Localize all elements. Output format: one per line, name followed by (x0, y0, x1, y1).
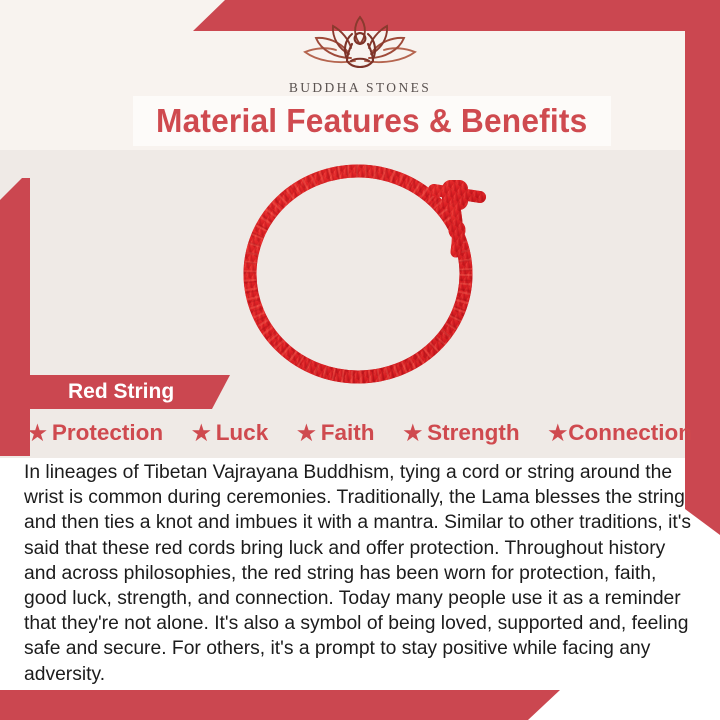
feature-label: Strength (427, 420, 520, 446)
feature-item-luck: ★ Luck (192, 420, 268, 446)
feature-label: Luck (216, 420, 269, 446)
infographic-page: BUDDHA STONES Material Features & Benefi… (0, 0, 720, 720)
feature-label: Protection (52, 420, 163, 446)
star-icon: ★ (403, 423, 422, 444)
feature-label: Faith (321, 420, 375, 446)
description-paragraph: In lineages of Tibetan Vajrayana Buddhis… (24, 460, 692, 687)
brand-logo: BUDDHA STONES (0, 14, 720, 96)
star-icon: ★ (548, 423, 567, 444)
lotus-meditation-icon (295, 14, 425, 76)
feature-label: Connection (568, 420, 692, 446)
decorative-red-bar-left (0, 178, 30, 456)
page-title-banner: Material Features & Benefits (133, 96, 611, 146)
product-image-red-string-bracelet (228, 152, 503, 387)
brand-name: BUDDHA STONES (0, 80, 720, 96)
product-label-banner: Red String (30, 375, 230, 409)
product-label: Red String (68, 380, 174, 404)
star-icon: ★ (28, 423, 47, 444)
feature-item-strength: ★ Strength (403, 420, 519, 446)
star-icon: ★ (192, 423, 211, 444)
feature-item-faith: ★ Faith (297, 420, 375, 446)
page-title: Material Features & Benefits (156, 102, 587, 140)
feature-item-protection: ★ Protection (28, 420, 163, 446)
star-icon: ★ (297, 423, 316, 444)
feature-list: ★ Protection ★ Luck ★ Faith ★ Strength ★… (28, 420, 692, 446)
feature-item-connection: ★ Connection (548, 420, 692, 446)
decorative-red-strip-bottom (0, 690, 560, 720)
